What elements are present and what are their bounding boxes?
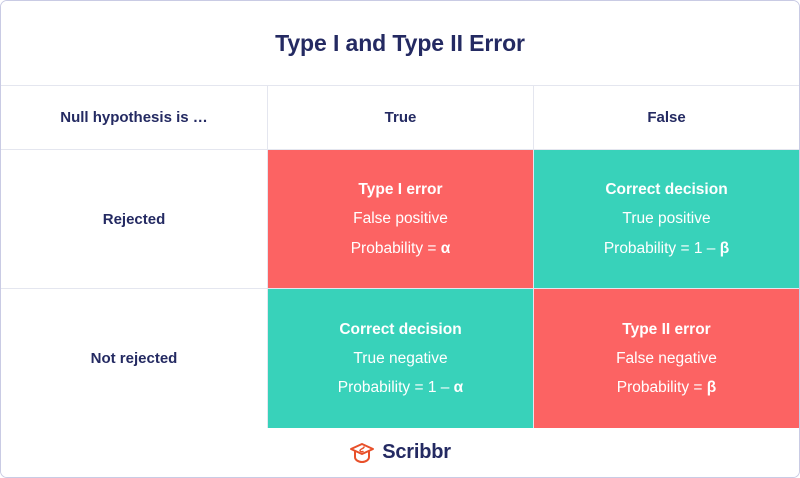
scribbr-wordmark: Scribbr xyxy=(382,441,451,464)
beta-symbol: β xyxy=(707,379,716,396)
cell-type-ii-error-title: Type II error xyxy=(622,321,710,338)
column-header-true-label: True xyxy=(385,109,417,126)
cell-correct-true-positive-subtitle: True positive xyxy=(622,210,710,227)
type-i-type-ii-error-figure: Type I and Type II Error Null hypothesis… xyxy=(0,0,800,478)
cell-type-i-error: Type I error False positive Probability … xyxy=(268,150,534,288)
row-header-not-rejected: Not rejected xyxy=(1,289,268,428)
cell-correct-true-negative-probability: Probability = 1 – α xyxy=(338,379,463,396)
cell-type-ii-error: Type II error False negative Probability… xyxy=(534,289,799,428)
row-header-rejected: Rejected xyxy=(1,150,268,288)
table-corner-cell: Null hypothesis is … xyxy=(1,86,268,149)
row-header-rejected-label: Rejected xyxy=(103,211,166,228)
corner-label: Null hypothesis is … xyxy=(60,109,208,126)
scribbr-logo: Scribbr xyxy=(349,441,451,464)
table-header-row: Null hypothesis is … True False xyxy=(1,86,799,150)
figure-footer: Scribbr xyxy=(1,428,799,477)
cell-correct-true-negative: Correct decision True negative Probabili… xyxy=(268,289,534,428)
cell-type-i-error-title: Type I error xyxy=(358,181,442,198)
cell-correct-true-negative-subtitle: True negative xyxy=(353,350,447,367)
cell-correct-true-negative-title: Correct decision xyxy=(339,321,461,338)
probability-prefix: Probability = xyxy=(351,240,441,257)
probability-prefix: Probability = xyxy=(617,379,707,396)
row-header-not-rejected-label: Not rejected xyxy=(91,350,178,367)
beta-symbol: β xyxy=(720,240,729,257)
cell-type-ii-error-probability: Probability = β xyxy=(617,379,717,396)
cell-type-ii-error-subtitle: False negative xyxy=(616,350,717,367)
column-header-false: False xyxy=(534,86,799,149)
error-matrix-table: Null hypothesis is … True False Rejected… xyxy=(1,86,799,428)
cell-correct-true-positive-title: Correct decision xyxy=(605,181,727,198)
graduation-cap-icon xyxy=(349,442,375,464)
probability-prefix: Probability = 1 – xyxy=(338,379,454,396)
cell-type-i-error-probability: Probability = α xyxy=(351,240,451,257)
cell-correct-true-positive-probability: Probability = 1 – β xyxy=(604,240,729,257)
figure-title-bar: Type I and Type II Error xyxy=(1,1,799,86)
column-header-false-label: False xyxy=(647,109,685,126)
table-row-not-rejected: Not rejected Correct decision True negat… xyxy=(1,289,799,428)
alpha-symbol: α xyxy=(441,240,451,257)
figure-title: Type I and Type II Error xyxy=(275,30,525,57)
table-row-rejected: Rejected Type I error False positive Pro… xyxy=(1,150,799,289)
probability-prefix: Probability = 1 – xyxy=(604,240,720,257)
column-header-true: True xyxy=(268,86,534,149)
alpha-symbol: α xyxy=(454,379,464,396)
cell-correct-true-positive: Correct decision True positive Probabili… xyxy=(534,150,799,288)
cell-type-i-error-subtitle: False positive xyxy=(353,210,448,227)
